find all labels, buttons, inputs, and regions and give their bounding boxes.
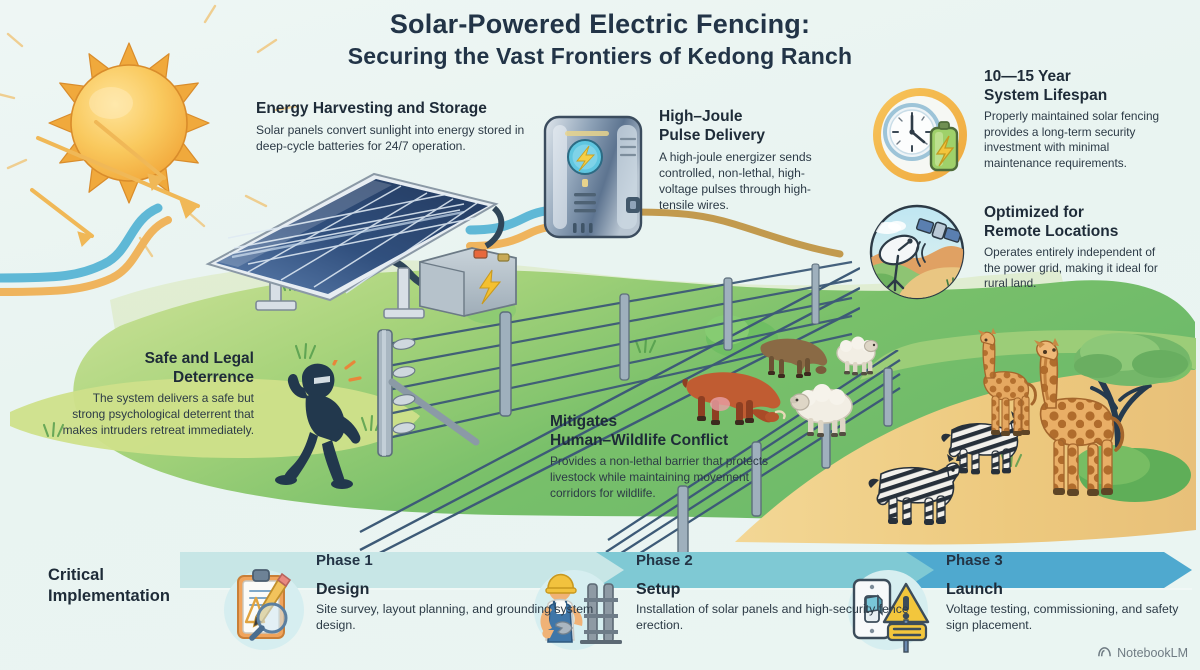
callout-heading-line-1: Optimized for — [984, 204, 1174, 223]
callout-body: Operates entirely independent of the pow… — [984, 245, 1174, 292]
callout-energy-harvesting: Energy Harvesting and Storage Solar pane… — [256, 100, 538, 154]
callout-heading-line-1: Safe and Legal — [58, 350, 254, 369]
callout-heading: Energy Harvesting and Storage — [256, 100, 538, 119]
callout-body: A high-joule energizer sends controlled,… — [659, 149, 839, 214]
callout-body: Properly maintained solar fencing provid… — [984, 109, 1169, 172]
sheep-white — [788, 382, 868, 438]
critical-label-line-2: Implementation — [48, 586, 258, 607]
title-line-1: Solar-Powered Electric Fencing: — [0, 8, 1200, 42]
callout-safe-legal-deterrence: Safe and Legal Deterrence The system del… — [58, 350, 254, 439]
poster-title: Solar-Powered Electric Fencing: Securing… — [0, 8, 1200, 72]
critical-label-line-1: Critical — [48, 565, 258, 586]
cow-dark-grazing — [755, 330, 833, 382]
callout-body: The system delivers a safe but strong ps… — [58, 391, 254, 439]
phase-2-title: Setup — [636, 581, 936, 599]
energizer-box-icon — [531, 105, 657, 247]
callout-body: Provides a non-lethal barrier that prote… — [550, 454, 780, 502]
phase-3-desc: Voltage testing, commissioning, and safe… — [946, 601, 1196, 634]
callout-heading-line-2: Deterrence — [58, 369, 254, 388]
notebooklm-watermark: NotebookLM — [1097, 645, 1188, 660]
phase-1: Phase 1 Design Site survey, layout plann… — [316, 552, 616, 634]
notebooklm-label: NotebookLM — [1117, 646, 1188, 660]
notebooklm-logo-icon — [1097, 645, 1112, 660]
phase-3: Phase 3 Launch Voltage testing, commissi… — [946, 552, 1196, 634]
phase-1-desc: Site survey, layout planning, and ground… — [316, 601, 616, 634]
phase-2: Phase 2 Setup Installation of solar pane… — [636, 552, 936, 634]
satellite-dish-icon — [865, 200, 969, 304]
phase-2-desc: Installation of solar panels and high-se… — [636, 601, 936, 634]
callout-heading-line-2: Remote Locations — [984, 223, 1174, 242]
callout-human-wildlife-conflict: Mitigates Human–Wildlife Conflict Provid… — [550, 413, 780, 502]
zebra-front — [855, 450, 975, 528]
infographic-poster: Solar-Powered Electric Fencing: Securing… — [0, 0, 1200, 670]
critical-implementation-label: Critical Implementation — [48, 565, 258, 608]
phase-2-name: Phase 2 — [636, 552, 936, 569]
sheep-white-small — [828, 333, 886, 377]
title-line-2: Securing the Vast Frontiers of Kedong Ra… — [0, 42, 1200, 72]
phase-1-name: Phase 1 — [316, 552, 616, 569]
giraffe-large — [1012, 338, 1132, 508]
callout-pulse-delivery: High–Joule Pulse Delivery A high-joule e… — [659, 108, 839, 214]
intruder-figure-icon — [262, 360, 382, 500]
callout-heading-line-1: High–Joule — [659, 108, 839, 127]
callout-heading-line-2: System Lifespan — [984, 87, 1169, 106]
callout-system-lifespan: 10—15 Year System Lifespan Properly main… — [984, 68, 1169, 172]
callout-body: Solar panels convert sunlight into energ… — [256, 122, 538, 154]
callout-remote-locations: Optimized for Remote Locations Operates … — [984, 204, 1174, 292]
callout-heading-line-2: Human–Wildlife Conflict — [550, 432, 780, 451]
phase-1-title: Design — [316, 581, 616, 599]
phase-3-name: Phase 3 — [946, 552, 1196, 569]
clock-battery-icon — [869, 84, 971, 186]
callout-heading-line-2: Pulse Delivery — [659, 127, 839, 146]
phase-3-title: Launch — [946, 581, 1196, 599]
callout-heading-line-1: Mitigates — [550, 413, 780, 432]
